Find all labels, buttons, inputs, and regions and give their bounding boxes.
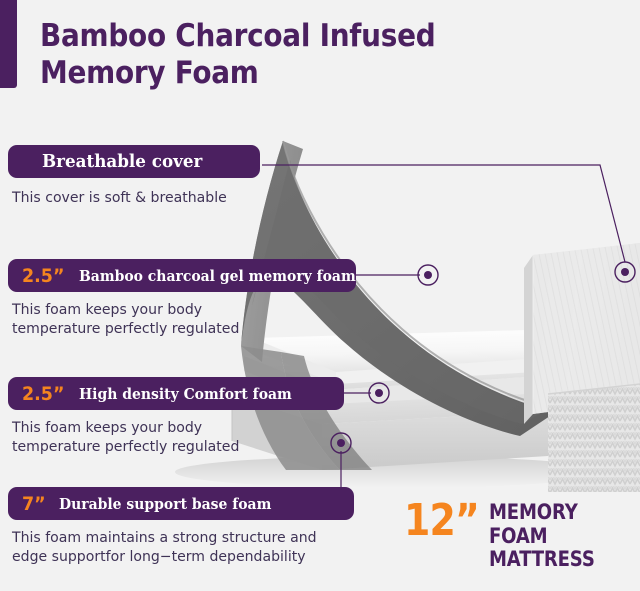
accent-bar <box>0 0 17 88</box>
callout-description-breathable-cover: This cover is soft & breathable <box>12 189 293 208</box>
marker-cover <box>615 262 635 282</box>
marker-comfort <box>369 383 389 403</box>
callout-pill-high-density-comfort[interactable]: 2.5” High density Comfort foam <box>8 377 344 410</box>
size-lockup: 12” MEMORY FOAM MATTRESS <box>404 499 640 572</box>
callout-label-bamboo-charcoal-gel: Bamboo charcoal gel memory foam <box>79 267 356 285</box>
callout-pill-breathable-cover[interactable]: Breathable cover <box>8 145 260 178</box>
page-title: Bamboo Charcoal Infused Memory Foam <box>40 18 508 91</box>
marker-gel <box>418 265 438 285</box>
size-words: MEMORY FOAM MATTRESS <box>489 501 619 572</box>
callout-label-breathable-cover: Breathable cover <box>42 151 202 172</box>
callout-thickness-bamboo-charcoal-gel: 2.5” <box>22 265 64 287</box>
callout-thickness-durable-support-base: 7” <box>22 493 46 515</box>
callout-description-durable-support-base: This foam maintains a strong structure a… <box>12 529 342 566</box>
callout-label-high-density-comfort: High density Comfort foam <box>79 385 292 403</box>
callout-thickness-high-density-comfort: 2.5” <box>22 383 64 405</box>
callout-pill-bamboo-charcoal-gel[interactable]: 2.5” Bamboo charcoal gel memory foam <box>8 259 356 292</box>
size-number: 12” <box>404 499 479 542</box>
callout-description-bamboo-charcoal-gel: This foam keeps your body temperature pe… <box>12 301 303 338</box>
callout-label-durable-support-base: Durable support base foam <box>59 495 271 513</box>
marker-base <box>331 433 351 453</box>
infographic-canvas: Bamboo Charcoal Infused Memory Foam <box>0 0 640 591</box>
callout-description-high-density-comfort: This foam keeps your body temperature pe… <box>12 419 303 456</box>
callout-pill-durable-support-base[interactable]: 7” Durable support base foam <box>8 487 354 520</box>
